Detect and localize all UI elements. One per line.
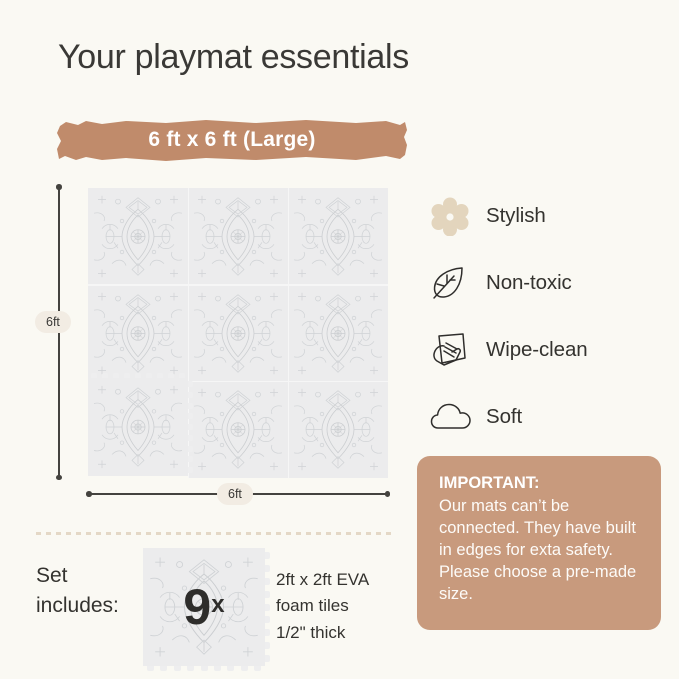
feature-label: Wipe-clean	[486, 338, 588, 362]
set-includes-label-line1: Set	[36, 561, 119, 591]
mat-tile	[188, 285, 288, 382]
mat-tile	[288, 188, 388, 285]
set-includes-description-line3: 1/2" thick	[276, 620, 369, 646]
section-divider	[36, 532, 391, 535]
important-callout-box: IMPORTANT: Our mats can’t be connected. …	[417, 456, 661, 630]
dimension-endpoint	[86, 491, 92, 497]
mat-tile	[188, 381, 288, 478]
important-heading: IMPORTANT:	[439, 473, 641, 495]
dimension-endpoint	[56, 475, 62, 481]
set-includes-description: 2ft x 2ft EVA foam tiles 1/2" thick	[276, 567, 369, 646]
feature-label: Non-toxic	[486, 271, 572, 295]
puzzle-teeth-right	[265, 552, 270, 662]
set-includes-tile-image: 9 x	[143, 548, 265, 666]
dimension-endpoint	[56, 184, 62, 190]
feature-item-stylish: Stylish	[430, 182, 665, 249]
set-includes-label: Set includes:	[36, 561, 119, 621]
feature-list: Stylish Non-toxic Wipe-clean	[430, 182, 665, 450]
feature-label: Soft	[486, 405, 522, 429]
dimension-endpoint	[385, 491, 391, 497]
leaf-icon	[430, 263, 486, 303]
mat-tile	[188, 188, 288, 285]
mat-tile	[88, 285, 188, 382]
set-includes-description-line1: 2ft x 2ft EVA	[276, 567, 369, 593]
set-includes-label-line2: includes:	[36, 591, 119, 621]
important-body: Our mats can’t be connected. They have b…	[439, 496, 641, 606]
mat-tile	[88, 188, 188, 285]
set-includes-section: Set includes: 9 x 2ft x 2ft EVA foam til…	[36, 548, 416, 668]
puzzle-teeth-bottom	[147, 666, 261, 671]
cloud-icon	[430, 397, 486, 437]
detached-mat-tile	[88, 378, 188, 476]
set-includes-description-line2: foam tiles	[276, 593, 369, 619]
mat-tile	[288, 381, 388, 478]
feature-item-soft: Soft	[430, 383, 665, 450]
wipe-hand-icon	[430, 330, 486, 370]
flower-icon	[430, 196, 486, 236]
puzzle-teeth-top	[91, 373, 185, 378]
feature-item-non-toxic: Non-toxic	[430, 249, 665, 316]
feature-label: Stylish	[486, 204, 546, 228]
dimension-label-height: 6ft	[35, 311, 71, 333]
dimension-label-width: 6ft	[217, 483, 253, 505]
mat-diagram: 6ft 6ft	[0, 0, 420, 520]
puzzle-teeth-right	[188, 381, 193, 473]
feature-item-wipe-clean: Wipe-clean	[430, 316, 665, 383]
tile-seam	[288, 188, 290, 478]
tile-seam	[88, 284, 388, 286]
mat-tile	[288, 285, 388, 382]
